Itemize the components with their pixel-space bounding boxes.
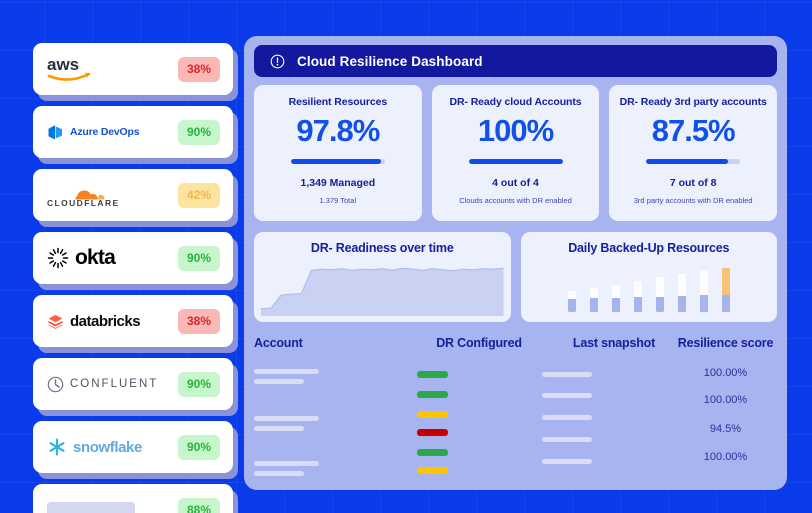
kpi-title: DR- Ready cloud Accounts [450, 96, 582, 108]
table-header-row: Account DR Configured Last snapshot Resi… [254, 336, 777, 350]
kpi-progress-bar [291, 159, 385, 164]
chart-title: Daily Backed-Up Resources [521, 241, 778, 255]
bar-base-segment [700, 295, 708, 312]
snapshot-placeholder [542, 459, 592, 464]
kpi-subtext: 4 out of 4 [492, 177, 539, 189]
charts-row: DR- Readiness over time Daily Backed-Up … [254, 232, 777, 322]
svg-text:CLOUDFLARE: CLOUDFLARE [47, 198, 120, 208]
bar-chart-bar [700, 271, 708, 312]
vendor-card-okta[interactable]: okta 90% [33, 232, 233, 284]
vendor-card-databricks[interactable]: databricks 38% [33, 295, 233, 347]
bar-base-segment [590, 298, 598, 312]
bar-chart-bar [612, 285, 620, 312]
azure-devops-logo-text: Azure DevOps [70, 126, 139, 138]
databricks-logo-text: databricks [70, 313, 140, 330]
snapshot-placeholder [542, 393, 592, 398]
bar-top-segment [722, 268, 730, 295]
account-placeholder [254, 369, 319, 389]
resilience-score-value: 100.00% [674, 451, 777, 463]
vendor-card-confluent[interactable]: CONFLUENT 90% [33, 358, 233, 410]
status-badge: 38% [178, 57, 220, 82]
bar-top-segment [634, 281, 642, 297]
chart-card-dr-readiness-over-time[interactable]: DR- Readiness over time [254, 232, 511, 322]
dr-status-pill [417, 411, 448, 418]
chart-card-daily-backed-up-resources[interactable]: Daily Backed-Up Resources [521, 232, 778, 322]
bar-top-segment [612, 285, 620, 298]
okta-logo: okta [47, 232, 115, 284]
status-badge: 90% [178, 246, 220, 271]
page-title: Cloud Resilience Dashboard [297, 54, 483, 69]
bar-chart-bar [590, 288, 598, 312]
kpi-title: DR- Ready 3rd party accounts [620, 96, 767, 108]
kpi-note: Clouds accounts with DR enabled [459, 196, 572, 205]
confluent-logo: CONFLUENT [47, 358, 158, 410]
vendor-card-azure-devops[interactable]: Azure DevOps 90% [33, 106, 233, 158]
placeholder-logo [47, 502, 135, 513]
cloud-resilience-dashboard: Cloud Resilience Dashboard Resilient Res… [244, 36, 787, 490]
bar-base-segment [678, 296, 686, 312]
resilience-score-value: 100.00% [674, 394, 777, 406]
bar-chart-bar [634, 281, 642, 312]
status-badge: 42% [178, 183, 220, 208]
bar-top-segment [700, 271, 708, 295]
kpi-value: 87.5% [652, 115, 735, 146]
bar-base-segment [612, 298, 620, 312]
bar-top-segment [656, 277, 664, 297]
kpi-note: 1.379 Total [320, 196, 357, 205]
bar-chart-bar [722, 268, 730, 312]
cloudflare-logo-mark: CLOUDFLARE [47, 182, 123, 208]
aws-logo-mark: aws [47, 55, 93, 83]
bar-chart-bar [568, 291, 576, 313]
bar-chart-bar [656, 277, 664, 312]
status-badge: 88% [178, 498, 220, 513]
dr-status-pill [417, 429, 448, 436]
svg-text:aws: aws [47, 55, 79, 74]
databricks-logo-mark [47, 313, 64, 330]
aws-logo: aws [47, 43, 93, 95]
bar-base-segment [656, 297, 664, 313]
snowflake-logo: snowflake [47, 421, 142, 473]
dr-status-pill [417, 391, 448, 398]
kpi-title: Resilient Resources [289, 96, 387, 108]
snowflake-logo-mark [47, 437, 67, 457]
azure-devops-logo-mark [47, 124, 64, 141]
bar-top-segment [568, 291, 576, 299]
databricks-logo: databricks [47, 295, 140, 347]
confluent-logo-text: CONFLUENT [70, 378, 158, 390]
azure-devops-logo: Azure DevOps [47, 106, 139, 158]
snapshot-placeholder [542, 372, 592, 377]
dr-readiness-area-chart [261, 260, 504, 316]
kpi-subtext: 1,349 Managed [300, 177, 375, 189]
vendor-card-cloudflare[interactable]: CLOUDFLARE 42% [33, 169, 233, 221]
snapshot-placeholder [542, 437, 592, 442]
kpi-row: Resilient Resources 97.8% 1,349 Managed … [254, 85, 777, 221]
kpi-progress-bar [469, 159, 563, 164]
account-placeholder [254, 461, 319, 481]
vendor-card-placeholder[interactable]: 88% [33, 484, 233, 513]
chart-title: DR- Readiness over time [254, 241, 511, 255]
bar-top-segment [590, 288, 598, 299]
kpi-value: 97.8% [296, 115, 379, 146]
bar-base-segment [568, 299, 576, 312]
vendor-card-aws[interactable]: aws 38% [33, 43, 233, 95]
column-header-resilience-score: Resilience score [674, 336, 777, 350]
bar-base-segment [634, 297, 642, 312]
status-badge: 38% [178, 309, 220, 334]
dashboard-header: Cloud Resilience Dashboard [254, 45, 777, 77]
resources-table: Account DR Configured Last snapshot Resi… [254, 336, 777, 480]
bar-base-segment [722, 295, 730, 312]
resilience-score-value: 94.5% [674, 423, 777, 435]
kpi-subtext: 7 out of 8 [670, 177, 717, 189]
okta-logo-mark [47, 247, 69, 269]
snapshot-placeholder [542, 415, 592, 420]
dr-status-pill [417, 371, 448, 378]
status-badge: 90% [178, 120, 220, 145]
kpi-value: 100% [478, 115, 553, 146]
okta-logo-text: okta [75, 246, 115, 270]
vendor-card-snowflake[interactable]: snowflake 90% [33, 421, 233, 473]
kpi-note: 3rd party accounts with DR enabled [634, 196, 753, 205]
bar-chart-bar [678, 274, 686, 312]
table-body: 100.00%100.00%94.5%100.00% [254, 361, 777, 473]
column-header-dr-configured: DR Configured [404, 336, 554, 350]
column-header-account: Account [254, 336, 404, 350]
snowflake-logo-text: snowflake [73, 439, 142, 456]
column-header-last-snapshot: Last snapshot [554, 336, 674, 350]
info-circle-icon [270, 54, 285, 69]
vendor-list: aws 38% Azure DevOps 90% CLOUDFLARE 42% [33, 43, 233, 513]
kpi-card-dr-ready-cloud-accounts[interactable]: DR- Ready cloud Accounts 100% 4 out of 4… [432, 85, 600, 221]
kpi-card-dr-ready-3rd-party-accounts[interactable]: DR- Ready 3rd party accounts 87.5% 7 out… [609, 85, 777, 221]
bar-top-segment [678, 274, 686, 296]
kpi-card-resilient-resources[interactable]: Resilient Resources 97.8% 1,349 Managed … [254, 85, 422, 221]
dr-status-pill [417, 449, 448, 456]
status-badge: 90% [178, 435, 220, 460]
account-placeholder [254, 416, 319, 436]
daily-backed-up-bar-chart [521, 266, 778, 312]
confluent-logo-mark [47, 376, 64, 393]
kpi-progress-bar [646, 159, 740, 164]
dr-status-pill [417, 467, 448, 474]
status-badge: 90% [178, 372, 220, 397]
area-chart-svg [261, 260, 504, 316]
resilience-score-value: 100.00% [674, 367, 777, 379]
cloudflare-logo: CLOUDFLARE [47, 169, 123, 221]
